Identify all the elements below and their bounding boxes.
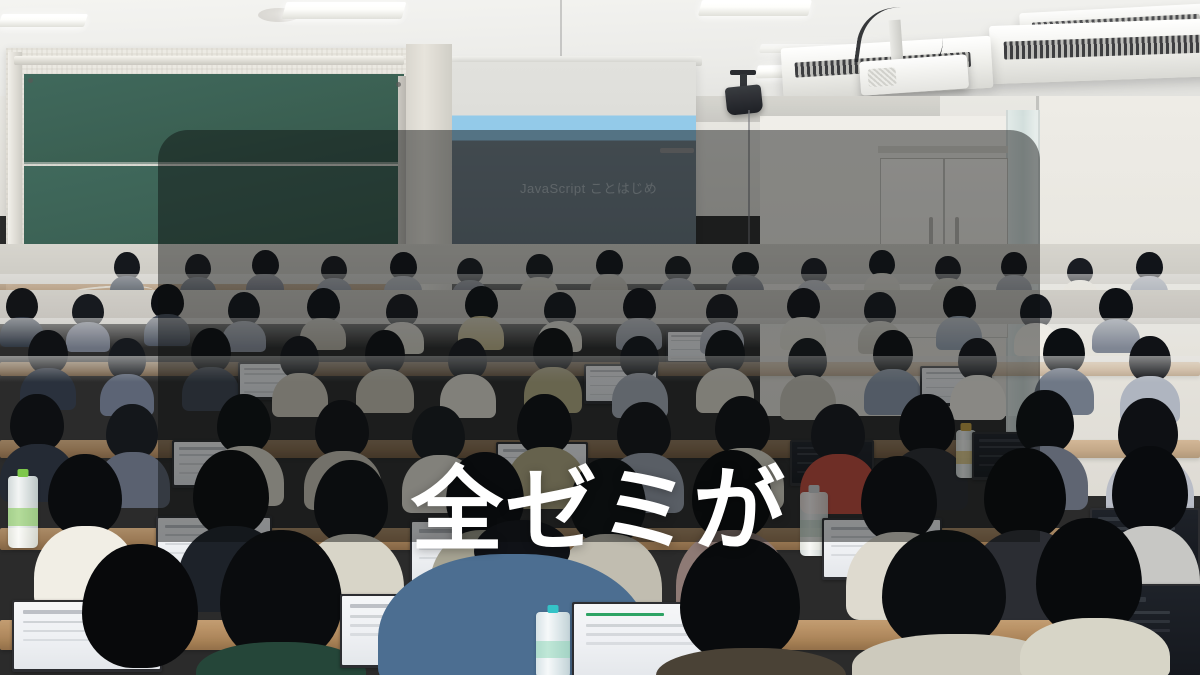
fluorescent-light (698, 0, 812, 16)
wall-speaker-icon (725, 84, 764, 116)
chalkboard-top-rail (14, 56, 404, 65)
person (1020, 518, 1170, 675)
ac-grille (1004, 35, 1200, 59)
torso (1020, 618, 1170, 675)
air-conditioner-unit (989, 18, 1200, 84)
head (48, 454, 122, 536)
headline-line-1: 全ゼミが (158, 452, 1040, 570)
person (110, 252, 144, 292)
screenshot-stage: JavaScript ことはじめ (0, 0, 1200, 675)
fluorescent-light (0, 14, 88, 27)
person (100, 338, 154, 410)
headline-text: 全ゼミが 開始しました (158, 216, 1040, 675)
bottle-cap (18, 469, 29, 477)
person (20, 330, 76, 404)
board-screw (396, 82, 401, 87)
fluorescent-light (282, 2, 407, 19)
board-screw (28, 78, 33, 83)
